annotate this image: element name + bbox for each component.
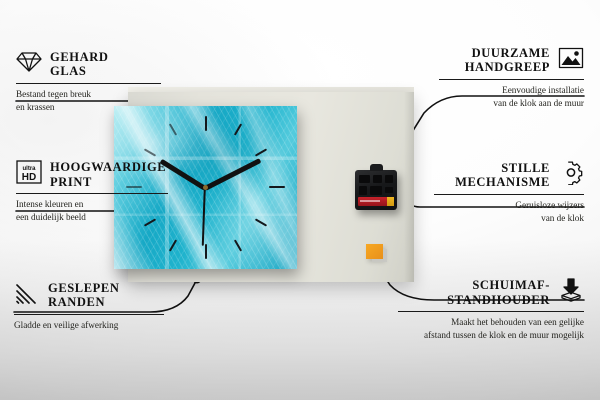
gear-icon xyxy=(558,160,584,190)
clock-tick-12 xyxy=(205,116,207,131)
movement-hanger-tab xyxy=(370,164,383,171)
callout-title-line1: STILLE xyxy=(501,161,550,175)
callout-title-line2: PRINT xyxy=(50,175,92,189)
callout-desc-line1: Eenvoudige installatie xyxy=(502,85,584,95)
callout-title-line2: RANDEN xyxy=(48,295,105,309)
callout-divider xyxy=(439,79,584,80)
callout-title-line1: DUURZAME xyxy=(472,46,550,60)
diamond-icon xyxy=(16,51,42,78)
callout-title-line2: GLAS xyxy=(50,64,86,78)
clock-tick-6 xyxy=(205,244,207,259)
clock-center-hub xyxy=(203,185,208,190)
callout-divider xyxy=(14,314,164,315)
callout-desc-line2: afstand tussen de klok en de muur mogeli… xyxy=(424,330,584,340)
callout-title-line1: SCHUIMAF- xyxy=(472,278,550,292)
callout-geslepen-randen: GESLEPEN RANDEN Gladde en veilige afwerk… xyxy=(14,281,164,332)
callout-divider xyxy=(434,194,584,195)
product-infographic: GEHARD GLAS Bestand tegen breuk en krass… xyxy=(0,0,600,400)
callout-hoogwaardige-print: ultra HD HOOGWAARDIGE PRINT Intense kleu… xyxy=(16,160,168,223)
callout-desc-line1: Gladde en veilige afwerking xyxy=(14,320,118,330)
callout-stille-mechanisme: STILLE MECHANISME Geruisloze wijzers van… xyxy=(434,160,584,224)
svg-text:HD: HD xyxy=(22,172,36,183)
callout-desc-line1: Maakt het behouden van een gelijke xyxy=(451,317,584,327)
callout-title-line2: MECHANISME xyxy=(455,175,550,189)
beveled-edge-icon xyxy=(14,282,40,309)
callout-title-line1: GESLEPEN xyxy=(48,281,120,295)
callout-divider xyxy=(398,311,584,312)
callout-desc-line1: Bestand tegen breuk xyxy=(16,89,91,99)
callout-desc-line2: van de klok xyxy=(541,213,584,223)
callout-schuimafstandhouder: SCHUIMAF- STANDHOUDER Maakt het behouden… xyxy=(398,278,584,341)
callout-divider xyxy=(16,193,168,194)
press-down-icon xyxy=(558,278,584,307)
callout-title-line2: HANDGREEP xyxy=(465,60,550,74)
callout-title-line1: HOOGWAARDIGE xyxy=(50,160,166,174)
callout-gehard-glas: GEHARD GLAS Bestand tegen breuk en krass… xyxy=(16,50,161,113)
foam-spacer xyxy=(366,244,383,259)
picture-frame-icon xyxy=(558,47,584,74)
ultra-hd-icon: ultra HD xyxy=(16,160,42,189)
clock-movement xyxy=(355,170,397,210)
movement-battery xyxy=(358,197,394,206)
callout-title-line2: STANDHOUDER xyxy=(447,293,550,307)
callout-divider xyxy=(16,83,161,84)
callout-duurzame-handgreep: DUURZAME HANDGREEP Eenvoudige installati… xyxy=(439,46,584,109)
callout-desc-line2: een duidelijk beeld xyxy=(16,212,86,222)
callout-title-line1: GEHARD xyxy=(50,50,108,64)
callout-desc-line1: Intense kleuren en xyxy=(16,199,83,209)
callout-desc-line2: en krassen xyxy=(16,102,55,112)
callout-desc-line2: van de klok aan de muur xyxy=(493,98,584,108)
callout-desc-line1: Geruisloze wijzers xyxy=(515,200,584,210)
